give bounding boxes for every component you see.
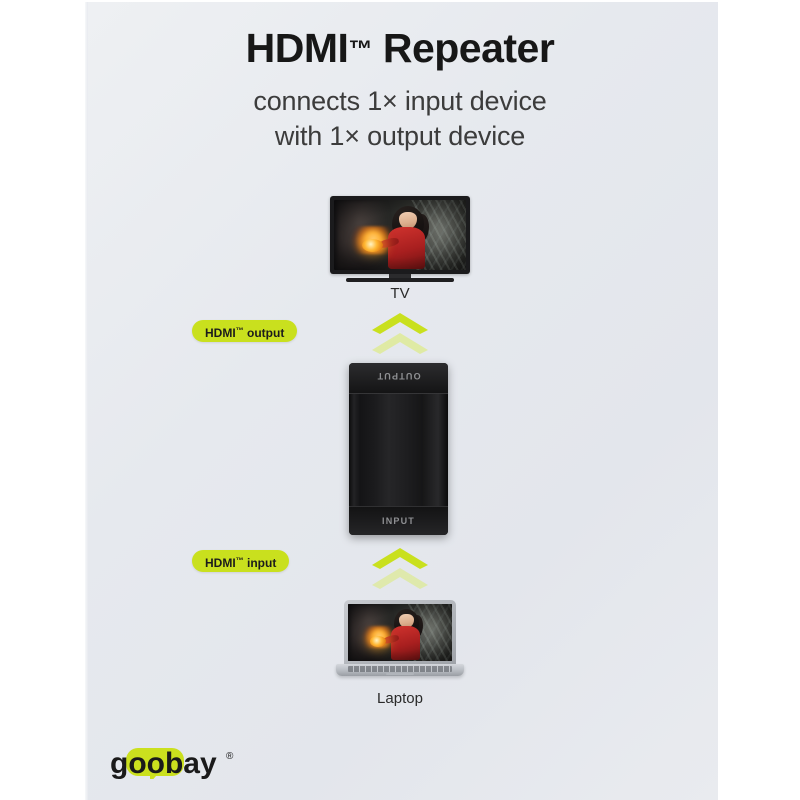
badge-output-tm: ™: [236, 326, 244, 335]
title-rest: Repeater: [372, 25, 554, 71]
title-main: HDMI: [246, 25, 349, 71]
page-subtitle: connects 1× input device with 1× output …: [0, 84, 800, 153]
product-infographic: HDMI™ Repeater connects 1× input device …: [0, 0, 800, 800]
repeater-input-label: INPUT: [349, 516, 448, 526]
device-hdmi-repeater: OUTPUT INPUT: [349, 363, 448, 535]
tv-screen: [334, 200, 466, 270]
goobay-logo-icon: goobay ®: [108, 745, 248, 779]
trademark-symbol: ™: [348, 36, 372, 63]
badge-output-suffix: output: [244, 326, 285, 340]
subtitle-line-2: with 1× output device: [0, 119, 800, 154]
screen-artwork-image: [348, 604, 452, 661]
signal-arrows-output: [368, 310, 432, 356]
chevron-up-icon: [368, 330, 432, 356]
laptop-screen: [348, 604, 452, 661]
repeater-output-label: OUTPUT: [349, 371, 448, 381]
tv-frame: [330, 196, 470, 274]
badge-input-suffix: input: [244, 556, 277, 570]
laptop-keyboard: [348, 666, 452, 672]
page-title: HDMI™ Repeater: [0, 26, 800, 71]
laptop-base: [336, 664, 464, 676]
chevron-up-icon: [368, 565, 432, 591]
laptop-trackpad: [386, 673, 414, 675]
screen-artwork-image: [334, 200, 466, 270]
tv-stand-foot: [346, 278, 454, 282]
badge-hdmi-input: HDMI™ input: [192, 550, 289, 572]
device-label-laptop: Laptop: [300, 690, 500, 707]
badge-input-text: HDMI: [205, 556, 236, 570]
laptop-lid: [344, 600, 456, 666]
device-tv: [330, 196, 470, 280]
subtitle-line-1: connects 1× input device: [0, 84, 800, 119]
badge-input-tm: ™: [236, 556, 244, 565]
badge-hdmi-output: HDMI™ output: [192, 320, 297, 342]
badge-output-text: HDMI: [205, 326, 236, 340]
device-laptop: [336, 600, 464, 680]
brand-logo-goobay: goobay ®: [108, 745, 248, 779]
logo-registered-mark: ®: [226, 751, 234, 762]
signal-arrows-input: [368, 545, 432, 591]
device-label-tv: TV: [300, 285, 500, 302]
logo-wordmark: goobay: [110, 747, 217, 779]
